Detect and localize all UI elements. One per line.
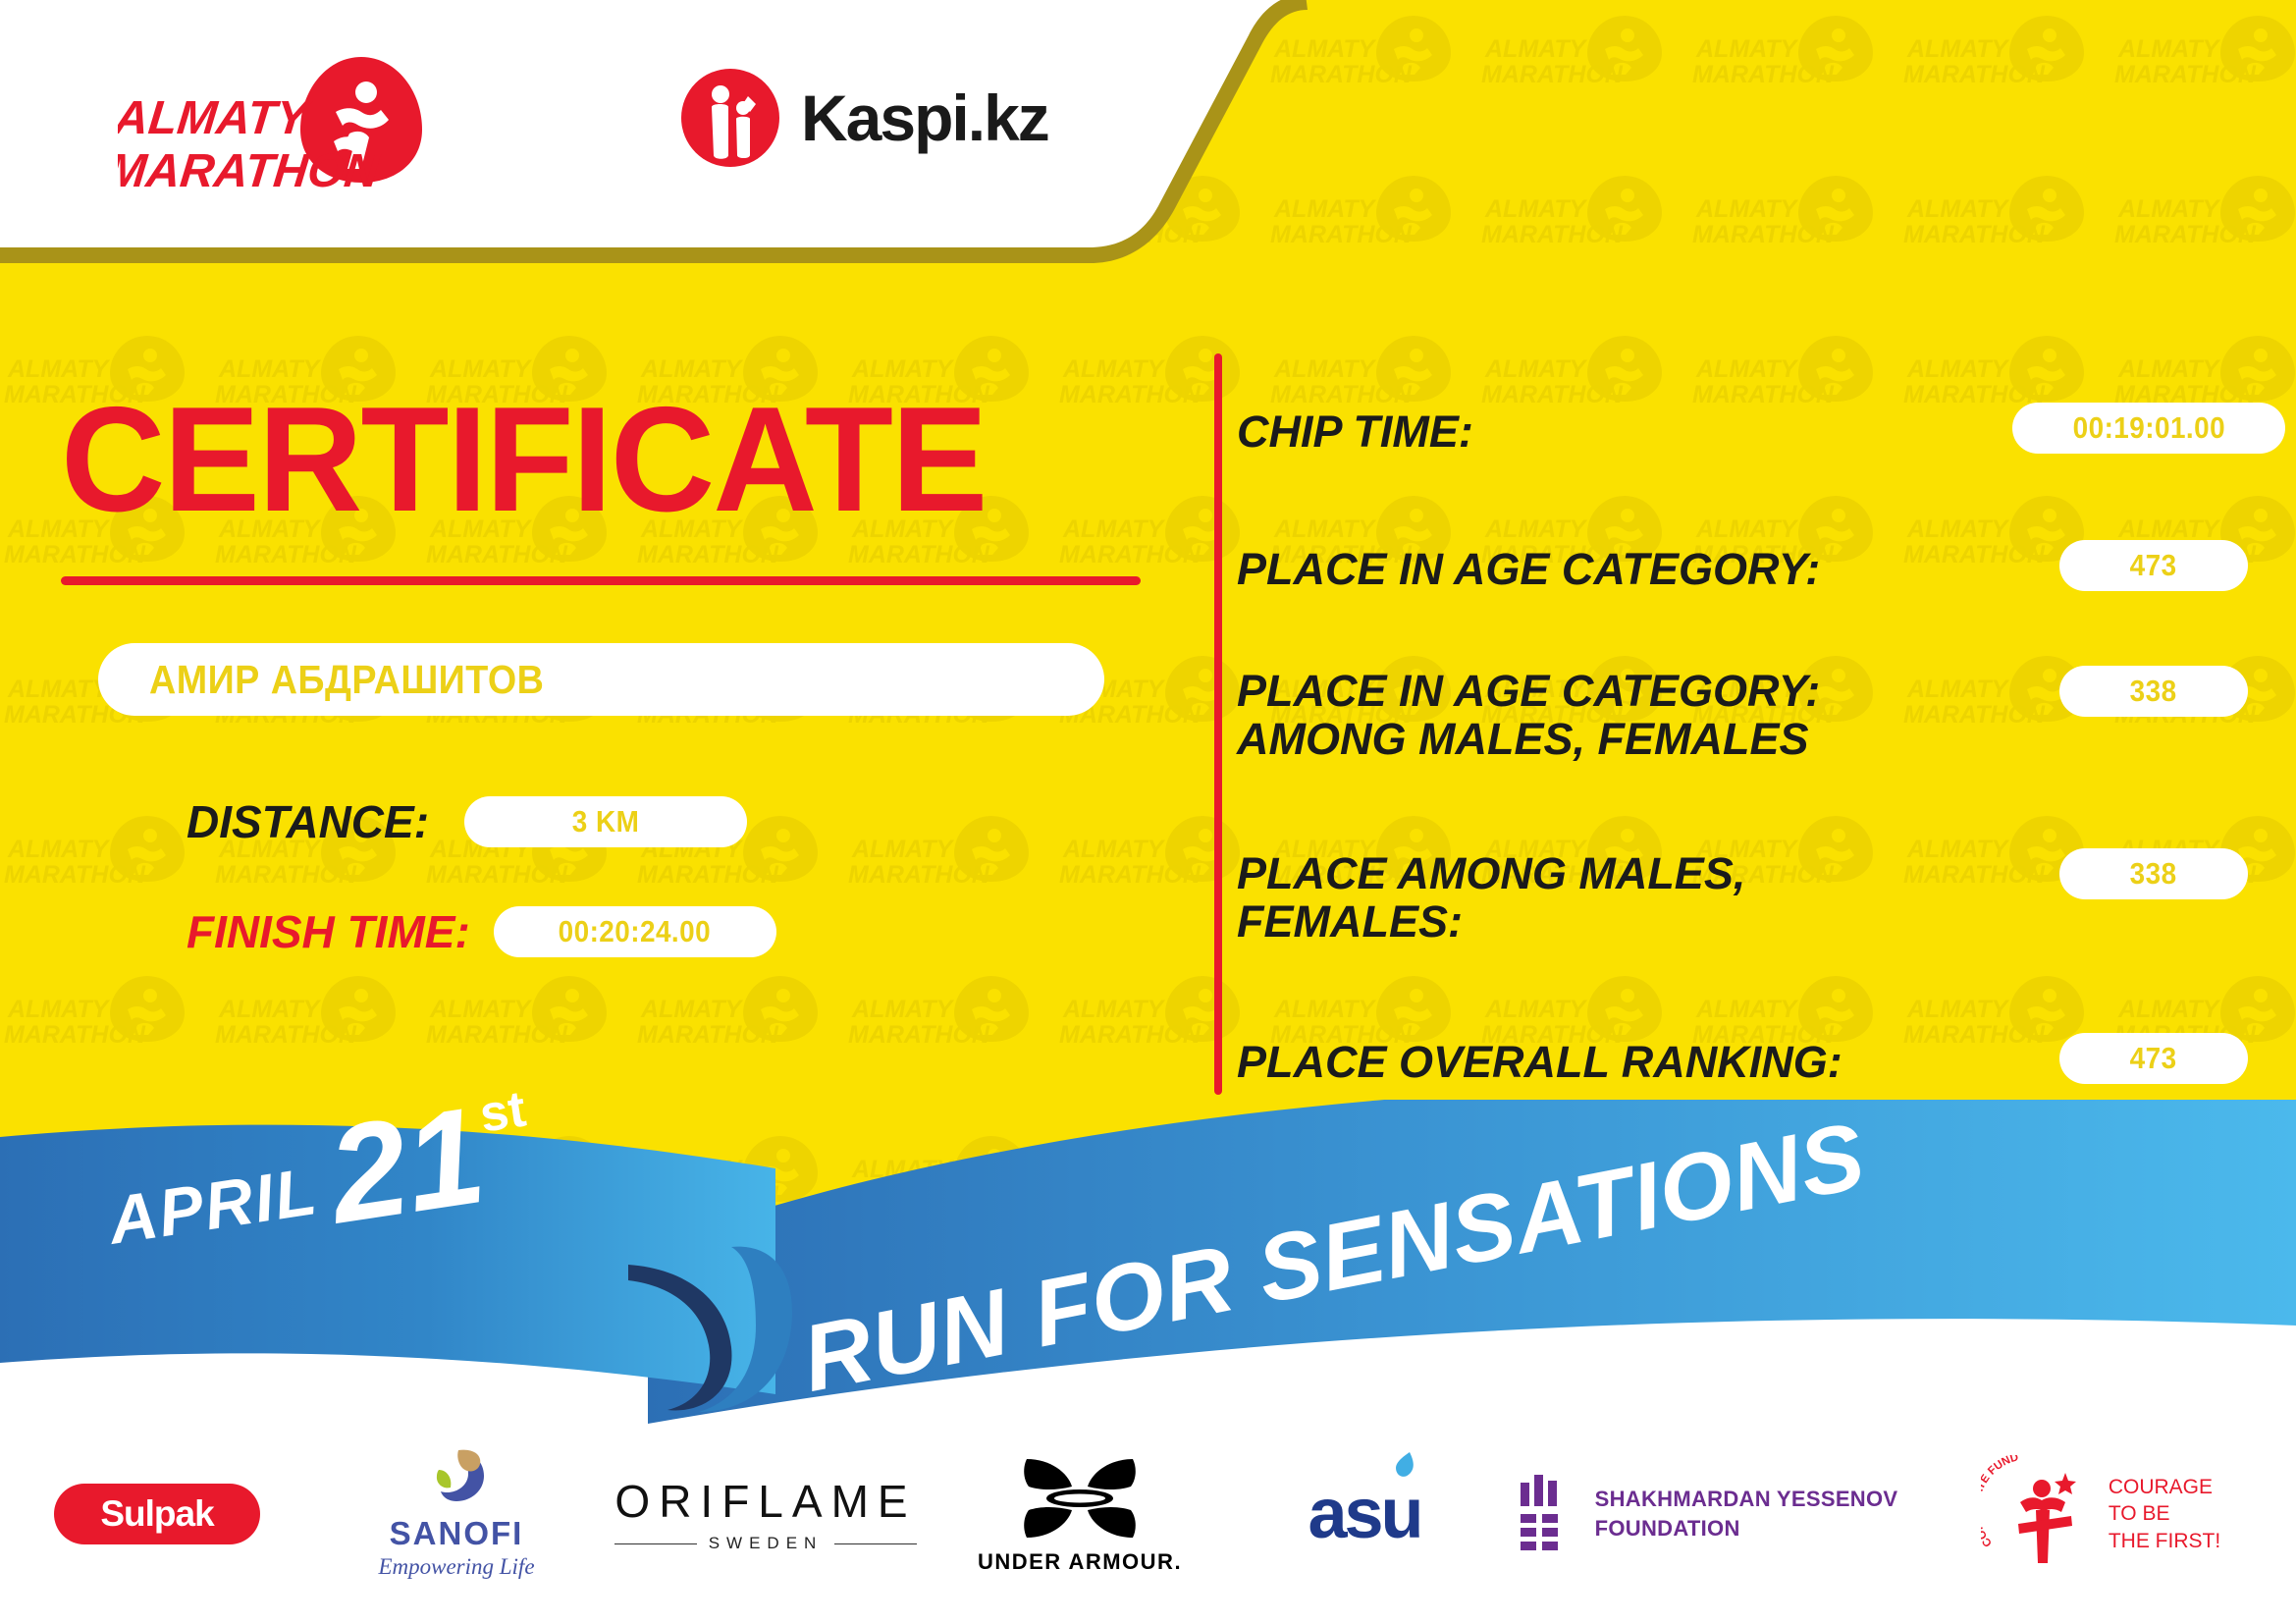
- asu-wordmark: asu: [1308, 1475, 1420, 1553]
- distance-value-pill: 3 KM: [464, 796, 747, 847]
- courage-fund-icon: CORPORATE FUND: [1981, 1455, 2099, 1573]
- oriflame-rule-right: [834, 1543, 916, 1544]
- courage-line-2: TO BE: [2109, 1500, 2220, 1527]
- result-value: 473: [2130, 548, 2177, 583]
- finish-time-label: FINISH TIME:: [187, 905, 470, 958]
- result-value: 473: [2130, 1041, 2177, 1076]
- kaspi-logo: Kaspi.kz: [677, 59, 1050, 177]
- page-title: CERTIFICATE: [61, 385, 986, 534]
- sanofi-tagline: Empowering Life: [378, 1554, 534, 1580]
- result-label: PLACE AMONG MALES, FEMALES:: [1237, 850, 1745, 946]
- result-label-line2: AMONG MALES, FEMALES: [1237, 716, 1820, 764]
- result-value: 338: [2130, 856, 2177, 892]
- event-day-suffix: st: [476, 1084, 528, 1141]
- sulpak-logo: Sulpak: [54, 1484, 260, 1544]
- sponsor-corporate-fund: CORPORATE FUND COURAGE TO BE THE FIRST!: [1914, 1426, 2287, 1602]
- under-armour-wordmark: UNDER ARMOUR.: [978, 1549, 1182, 1575]
- result-label: PLACE OVERALL RANKING:: [1237, 1039, 1842, 1087]
- result-label: PLACE IN AGE CATEGORY: AMONG MALES, FEMA…: [1237, 668, 1820, 763]
- participant-name-field: АМИР АБДРАШИТОВ: [98, 643, 1104, 716]
- result-value: 338: [2130, 674, 2177, 709]
- oriflame-rule-left: [614, 1543, 696, 1544]
- sponsor-oriflame: ORIFLAME SWEDEN: [599, 1426, 933, 1602]
- sponsor-asu: asu: [1227, 1426, 1502, 1602]
- distance-label: DISTANCE:: [187, 795, 429, 848]
- courage-line-1: COURAGE: [2109, 1474, 2220, 1500]
- asu-droplet-icon: [1392, 1452, 1417, 1482]
- kaspi-people-icon: [677, 65, 783, 171]
- oriflame-wordmark: ORIFLAME: [614, 1475, 916, 1528]
- yessenov-name: SHAKHMARDAN YESSENOV: [1595, 1485, 1898, 1514]
- result-value-pill: 473: [2059, 540, 2248, 591]
- finish-time-row: FINISH TIME: 00:20:24.00: [187, 905, 776, 958]
- under-armour-icon: [1017, 1453, 1143, 1543]
- corporate-fund-arc-text: CORPORATE FUND: [1981, 1455, 2020, 1548]
- distance-row: DISTANCE: 3 KM: [187, 795, 747, 848]
- sponsor-under-armour: UNDER ARMOUR.: [933, 1426, 1227, 1602]
- result-label-line1: PLACE AMONG MALES,: [1237, 850, 1745, 898]
- result-label-line1: PLACE IN AGE CATEGORY:: [1237, 668, 1820, 716]
- event-day: 21: [322, 1096, 491, 1234]
- column-divider: [1214, 353, 1222, 1095]
- oriflame-tagline: SWEDEN: [709, 1534, 824, 1553]
- result-label-line2: FEMALES:: [1237, 898, 1745, 947]
- result-value-pill: 473: [2059, 1033, 2248, 1084]
- title-divider: [61, 576, 1141, 585]
- yessenov-tagline: FOUNDATION: [1595, 1514, 1898, 1543]
- sanofi-mark-icon: [419, 1448, 494, 1511]
- sanofi-wordmark: SANOFI: [390, 1515, 524, 1552]
- courage-line-3: THE FIRST!: [2109, 1528, 2220, 1554]
- result-value: 00:19:01.00: [2072, 410, 2224, 446]
- left-column: CERTIFICATE АМИР АБДРАШИТОВ DISTANCE: 3 …: [0, 304, 1178, 1222]
- participant-name: АМИР АБДРАШИТОВ: [149, 657, 544, 703]
- almaty-marathon-logo: ALMATY MARATHON: [118, 51, 452, 198]
- sponsor-sulpak: Sulpak: [0, 1426, 314, 1602]
- marathon-wordmark: MARATHON: [118, 144, 383, 197]
- kaspi-wordmark: Kaspi.kz: [801, 85, 1048, 150]
- header: ALMATY MARATHON Kaspi.kz: [0, 0, 2296, 304]
- yessenov-mark-icon: [1519, 1473, 1575, 1555]
- finish-time-value-pill: 00:20:24.00: [494, 906, 776, 957]
- certificate-page: ALMATY MARATHON Kaspi.kz CERTIFICATE АМИ…: [0, 0, 2296, 1624]
- result-label: CHIP TIME:: [1237, 408, 1473, 457]
- result-value-pill: 338: [2059, 848, 2248, 899]
- almaty-wordmark: ALMATY: [118, 91, 314, 144]
- result-value-pill: 00:19:01.00: [2012, 403, 2285, 454]
- result-label: PLACE IN AGE CATEGORY:: [1237, 546, 1820, 594]
- finish-time-value: 00:20:24.00: [559, 914, 711, 949]
- sponsor-yessenov-foundation: SHAKHMARDAN YESSENOV FOUNDATION: [1502, 1426, 1914, 1602]
- distance-value: 3 KM: [572, 804, 639, 839]
- result-value-pill: 338: [2059, 666, 2248, 717]
- results-column: CHIP TIME: 00:19:01.00 PLACE IN AGE CATE…: [1237, 304, 2296, 1222]
- sponsor-bar: Sulpak SANOFI Empowering Life ORIFLAME S…: [0, 1404, 2296, 1624]
- sponsor-sanofi: SANOFI Empowering Life: [314, 1426, 599, 1602]
